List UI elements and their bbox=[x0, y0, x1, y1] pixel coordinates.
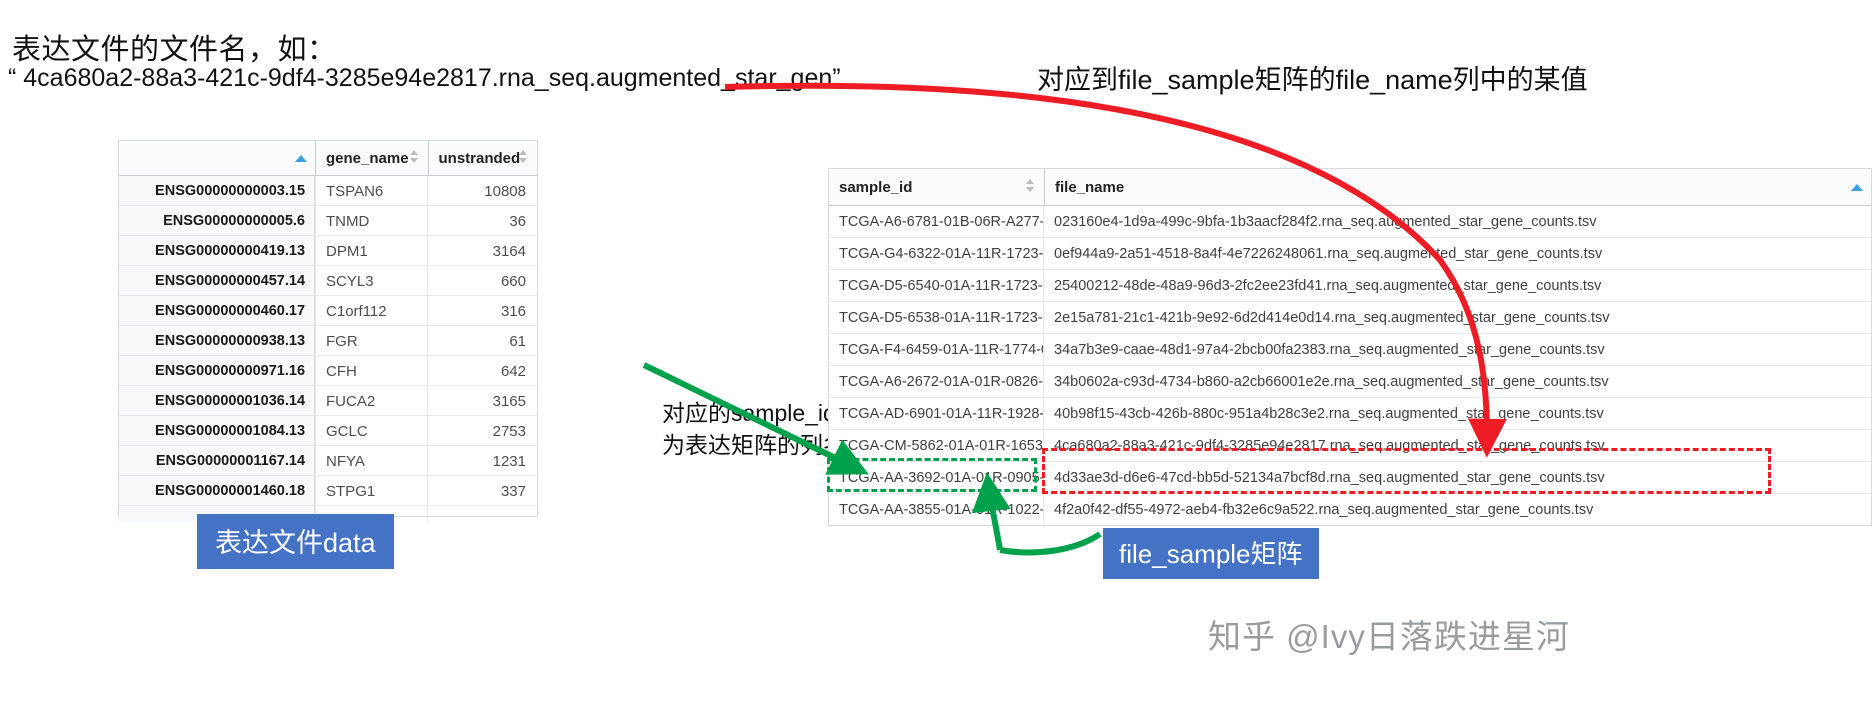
highlight-box-file-name bbox=[1042, 448, 1771, 494]
cell-sample-id: TCGA-F4-6459-01A-11R-1774-07 bbox=[829, 334, 1044, 365]
table-row[interactable]: ENSG00000000419.13DPM13164 bbox=[119, 236, 537, 266]
cell-gene-name: CFH bbox=[315, 356, 427, 385]
cell-unstranded: 337 bbox=[427, 476, 537, 505]
table-row[interactable]: ENSG00000000460.17C1orf112316 bbox=[119, 296, 537, 326]
cell-file-name: 023160e4-1d9a-499c-9bfa-1b3aacf284f2.rna… bbox=[1044, 206, 1871, 237]
cell-gene-id: ENSG00000001167.14 bbox=[119, 446, 315, 475]
sort-both-icon[interactable] bbox=[1026, 179, 1035, 195]
table-row[interactable]: TCGA-D5-6540-01A-11R-1723-0725400212-48d… bbox=[829, 270, 1871, 302]
caption-file-sample-matrix: file_sample矩阵 bbox=[1103, 528, 1319, 579]
cell-sample-id: TCGA-G4-6322-01A-11R-1723-07 bbox=[829, 238, 1044, 269]
column-header-sample-id-label: sample_id bbox=[839, 179, 912, 196]
cell-gene-id: ENSG00000000003.15 bbox=[119, 176, 315, 205]
cell-sample-id: TCGA-A6-2672-01A-01R-0826-07 bbox=[829, 366, 1044, 397]
table-row[interactable]: TCGA-G4-6322-01A-11R-1723-070ef944a9-2a5… bbox=[829, 238, 1871, 270]
green-arrow-tail bbox=[1000, 534, 1100, 552]
cell-unstranded: 36 bbox=[427, 206, 537, 235]
cell-gene-id: ENSG00000001460.18 bbox=[119, 476, 315, 505]
cell-gene-name: DPM1 bbox=[315, 236, 427, 265]
cell-sample-id: TCGA-CM-5862-01A-01R-1653-07 bbox=[829, 430, 1044, 461]
cell-gene-id: ENSG00000000460.17 bbox=[119, 296, 315, 325]
table-row[interactable]: ENSG00000000971.16CFH642 bbox=[119, 356, 537, 386]
column-header-gene-name-label: gene_name bbox=[326, 150, 409, 167]
cell-gene-id: ENSG00000000457.14 bbox=[119, 266, 315, 295]
table-row[interactable]: ENSG00000001460.18STPG1337 bbox=[119, 476, 537, 506]
cell-unstranded: 3164 bbox=[427, 236, 537, 265]
table-row[interactable]: ENSG00000000457.14SCYL3660 bbox=[119, 266, 537, 296]
cell-empty bbox=[427, 506, 537, 523]
expression-data-table[interactable]: gene_name unstranded ENSG00000000003.15T… bbox=[118, 140, 538, 517]
table-row[interactable]: ENSG00000000005.6TNMD36 bbox=[119, 206, 537, 236]
table-row[interactable]: TCGA-AA-3855-01A-01R-1022-074f2a0f42-df5… bbox=[829, 494, 1871, 525]
table-header-row: gene_name unstranded bbox=[119, 141, 537, 176]
cell-unstranded: 1231 bbox=[427, 446, 537, 475]
column-header-sample-id[interactable]: sample_id bbox=[829, 169, 1044, 205]
column-header-file-name[interactable]: file_name bbox=[1044, 169, 1871, 205]
cell-gene-name: SCYL3 bbox=[315, 266, 427, 295]
cell-sample-id: TCGA-AA-3855-01A-01R-1022-07 bbox=[829, 494, 1044, 525]
watermark-text: 知乎 @Ivy日落跌进星河 bbox=[1208, 610, 1570, 658]
table-row[interactable]: TCGA-A6-2672-01A-01R-0826-0734b0602a-c93… bbox=[829, 366, 1871, 398]
table-row[interactable]: TCGA-AD-6901-01A-11R-1928-0740b98f15-43c… bbox=[829, 398, 1871, 430]
cell-file-name: 40b98f15-43cb-426b-880c-951a4b28c3e2.rna… bbox=[1044, 398, 1871, 429]
cell-gene-id: ENSG00000000419.13 bbox=[119, 236, 315, 265]
cell-gene-id: ENSG00000001084.13 bbox=[119, 416, 315, 445]
table-row[interactable]: TCGA-F4-6459-01A-11R-1774-0734a7b3e9-caa… bbox=[829, 334, 1871, 366]
cell-unstranded: 660 bbox=[427, 266, 537, 295]
table-row[interactable]: TCGA-D5-6538-01A-11R-1723-072e15a781-21c… bbox=[829, 302, 1871, 334]
sort-both-icon[interactable] bbox=[410, 150, 419, 166]
cell-file-name: 2e15a781-21c1-421b-9e92-6d2d414e0d14.rna… bbox=[1044, 302, 1871, 333]
column-header-gene-id[interactable] bbox=[119, 141, 315, 175]
headline-expression-file: 表达文件的文件名，如： bbox=[12, 26, 337, 68]
cell-gene-name: C1orf112 bbox=[315, 296, 427, 325]
caption-expression-data: 表达文件data bbox=[197, 514, 394, 569]
table-row[interactable]: ENSG00000000003.15TSPAN610808 bbox=[119, 176, 537, 206]
note-file-name-column: 对应到file_sample矩阵的file_name列中的某值 bbox=[1037, 58, 1588, 97]
cell-unstranded: 642 bbox=[427, 356, 537, 385]
cell-gene-name: FGR bbox=[315, 326, 427, 355]
cell-gene-id: ENSG00000000005.6 bbox=[119, 206, 315, 235]
sort-both-icon[interactable] bbox=[519, 150, 528, 166]
cell-gene-name: STPG1 bbox=[315, 476, 427, 505]
table-row[interactable]: ENSG00000001036.14FUCA23165 bbox=[119, 386, 537, 416]
cell-gene-name: GCLC bbox=[315, 416, 427, 445]
table-row[interactable]: TCGA-A6-6781-01B-06R-A277-07023160e4-1d9… bbox=[829, 206, 1871, 238]
cell-gene-name: NFYA bbox=[315, 446, 427, 475]
column-header-file-name-label: file_name bbox=[1055, 179, 1124, 196]
cell-gene-name: TSPAN6 bbox=[315, 176, 427, 205]
cell-unstranded: 10808 bbox=[427, 176, 537, 205]
cell-unstranded: 316 bbox=[427, 296, 537, 325]
cell-unstranded: 2753 bbox=[427, 416, 537, 445]
sort-ascending-icon[interactable] bbox=[1851, 184, 1863, 191]
cell-file-name: 25400212-48de-48a9-96d3-2fc2ee23fd41.rna… bbox=[1044, 270, 1871, 301]
cell-sample-id: TCGA-D5-6540-01A-11R-1723-07 bbox=[829, 270, 1044, 301]
cell-sample-id: TCGA-D5-6538-01A-11R-1723-07 bbox=[829, 302, 1044, 333]
cell-unstranded: 61 bbox=[427, 326, 537, 355]
cell-sample-id: TCGA-A6-6781-01B-06R-A277-07 bbox=[829, 206, 1044, 237]
cell-gene-id: ENSG00000001036.14 bbox=[119, 386, 315, 415]
cell-file-name: 4f2a0f42-df55-4972-aeb4-fb32e6c9a522.rna… bbox=[1044, 494, 1871, 525]
cell-gene-id: ENSG00000000971.16 bbox=[119, 356, 315, 385]
sort-ascending-icon[interactable] bbox=[295, 155, 307, 162]
table-row[interactable]: ENSG00000000938.13FGR61 bbox=[119, 326, 537, 356]
column-header-gene-name[interactable]: gene_name bbox=[315, 141, 427, 175]
cell-sample-id: TCGA-AD-6901-01A-11R-1928-07 bbox=[829, 398, 1044, 429]
table-row[interactable]: ENSG00000001084.13GCLC2753 bbox=[119, 416, 537, 446]
cell-file-name: 34a7b3e9-caae-48d1-97a4-2bcb00fa2383.rna… bbox=[1044, 334, 1871, 365]
cell-file-name: 0ef944a9-2a51-4518-8a4f-4e7226248061.rna… bbox=[1044, 238, 1871, 269]
column-header-unstranded-label: unstranded bbox=[439, 150, 521, 167]
cell-unstranded: 3165 bbox=[427, 386, 537, 415]
cell-gene-name: TNMD bbox=[315, 206, 427, 235]
cell-gene-name: FUCA2 bbox=[315, 386, 427, 415]
cell-file-name: 34b0602a-c93d-4734-b860-a2cb66001e2e.rna… bbox=[1044, 366, 1871, 397]
headline-example-filename: “ 4ca680a2-88a3-421c-9df4-3285e94e2817.r… bbox=[8, 64, 841, 93]
table-row[interactable]: ENSG00000001167.14NFYA1231 bbox=[119, 446, 537, 476]
cell-gene-id: ENSG00000000938.13 bbox=[119, 326, 315, 355]
column-header-unstranded[interactable]: unstranded bbox=[428, 141, 538, 175]
highlight-box-sample-id bbox=[827, 458, 1037, 492]
table-header-row: sample_id file_name bbox=[829, 169, 1871, 206]
